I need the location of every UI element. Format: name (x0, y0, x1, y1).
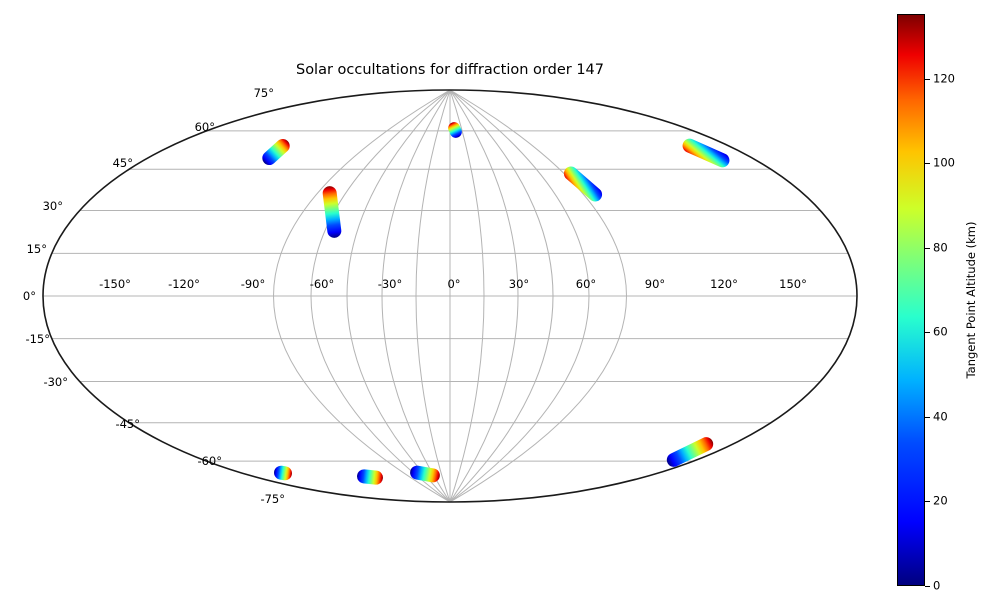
occultation-track (273, 465, 293, 481)
data-points-layer (259, 120, 731, 485)
lat-tick-neg30: -30° (43, 375, 68, 389)
lat-tick-45: 45° (113, 156, 133, 170)
lon-tick-30: 30° (509, 277, 529, 291)
colorbar-ticklabel-120: 120 (933, 73, 955, 85)
lat-tick-neg60: -60° (197, 454, 222, 468)
lat-tick-30: 30° (43, 199, 63, 213)
lon-tick-90: 90° (645, 277, 665, 291)
lat-tick-0: 0° (23, 289, 36, 303)
colorbar-ticklabel-0: 0 (933, 580, 940, 592)
longitude-tick-labels: -150° -120° -90° -60° -30° 0° 30° 60° 90… (99, 277, 807, 291)
lon-tick-0: 0° (447, 277, 460, 291)
occultation-track (356, 469, 383, 486)
lat-tick-15: 15° (27, 242, 47, 256)
mollweide-map: 75° 60° 45° 30° 15° 0° -15° -30° -45° -6… (0, 0, 1000, 600)
lat-tick-neg45: -45° (115, 417, 140, 431)
lon-tick-neg90: -90° (241, 277, 266, 291)
lon-tick-neg150: -150° (99, 277, 131, 291)
lat-tick-neg75: -75° (260, 492, 285, 506)
graticule (43, 90, 857, 502)
lon-tick-60: 60° (576, 277, 596, 291)
lon-tick-neg30: -30° (378, 277, 403, 291)
occultation-track (446, 120, 464, 140)
colorbar-tick-40 (925, 417, 930, 418)
colorbar-gradient (897, 14, 925, 586)
occultation-track (409, 465, 441, 484)
colorbar-axis-label: Tangent Point Altitude (km) (964, 222, 978, 379)
colorbar-ticklabel-20: 20 (933, 495, 948, 507)
occultation-track (664, 435, 715, 470)
colorbar-ticklabel-100: 100 (933, 157, 955, 169)
colorbar-ticklabel-60: 60 (933, 326, 948, 338)
occultation-track (259, 136, 292, 168)
colorbar-tick-0 (925, 586, 930, 587)
lat-tick-neg15: -15° (25, 332, 50, 346)
colorbar-tick-80 (925, 248, 930, 249)
lon-tick-150: 150° (779, 277, 807, 291)
colorbar-tick-100 (925, 163, 930, 164)
lon-tick-neg120: -120° (168, 277, 200, 291)
occultation-track (680, 136, 731, 169)
lat-tick-60: 60° (195, 120, 215, 134)
lon-tick-neg60: -60° (310, 277, 335, 291)
lat-tick-75: 75° (254, 86, 274, 100)
figure-canvas: Solar occultations for diffraction order… (0, 0, 1000, 600)
colorbar: 0 20 40 60 80 100 120 Tangent Point Alti… (895, 12, 1000, 588)
colorbar-ticklabel-40: 40 (933, 411, 948, 423)
lon-tick-120: 120° (710, 277, 738, 291)
colorbar-tick-20 (925, 501, 930, 502)
colorbar-ticklabel-80: 80 (933, 242, 948, 254)
occultation-track (561, 164, 605, 205)
colorbar-tick-120 (925, 79, 930, 80)
colorbar-tick-60 (925, 332, 930, 333)
